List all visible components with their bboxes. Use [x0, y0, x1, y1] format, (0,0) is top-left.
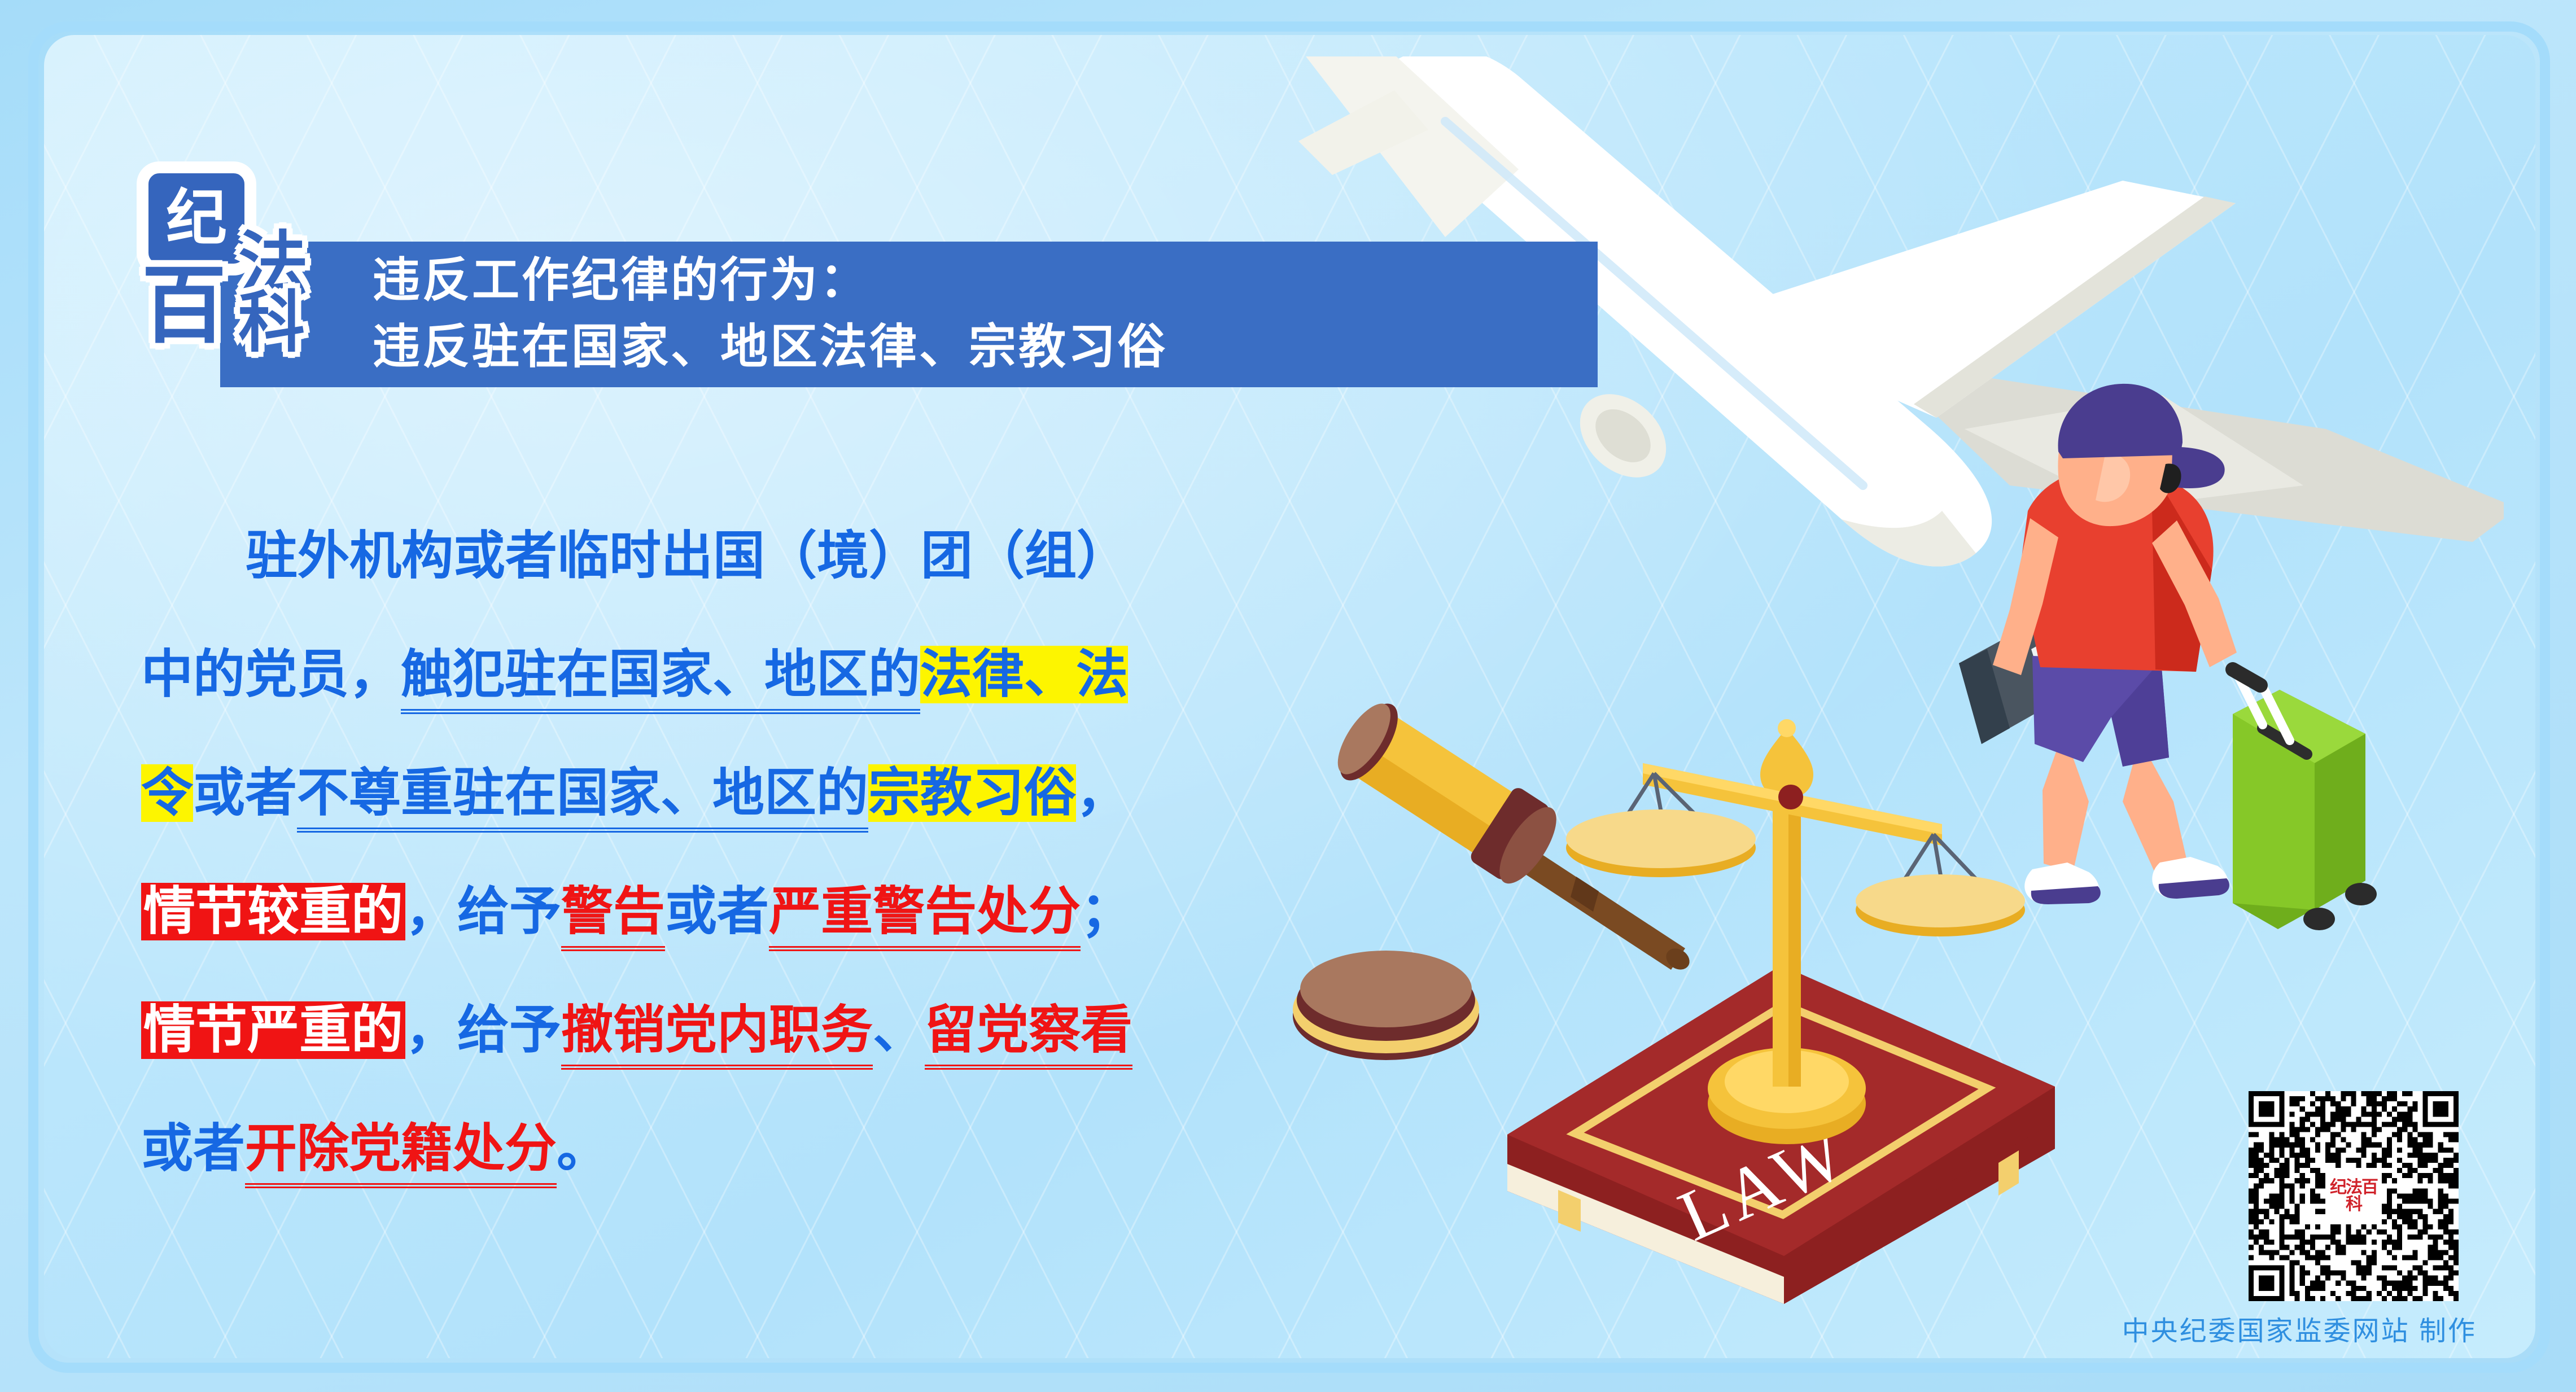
banner-line-2: 违反驻在国家、地区法律、宗教习俗 — [373, 314, 1598, 381]
body-segment: 中的党员， — [141, 646, 401, 703]
body-segment: 或者 — [665, 883, 769, 940]
body-segment: 或者 — [193, 764, 297, 822]
body-line-5: 情节严重的，给予撤销党内职务、留党察看 — [141, 971, 1270, 1089]
body-segment: ， — [1076, 764, 1128, 822]
body-line-2: 中的党员，触犯驻在国家、地区的法律、法 — [141, 615, 1270, 734]
body-segment: 法律、 — [920, 646, 1076, 703]
body-segment: ； — [1081, 883, 1132, 940]
body-segment: 开除党籍处分 — [245, 1120, 557, 1188]
logo-char-bai: 百 — [119, 264, 250, 349]
logo-char-ke: 科 — [238, 290, 305, 357]
qr-code[interactable]: 纪法百科 — [2249, 1091, 2459, 1301]
body-segment: 。 — [557, 1120, 609, 1177]
body-segment: 驻外机构或者临时出国（境）团（组） — [246, 527, 1129, 585]
poster-root: LAW — [0, 0, 2576, 1392]
body-segment: 情节严重的 — [141, 1001, 405, 1059]
body-segment: 或者 — [141, 1120, 245, 1177]
title-banner: 违反工作纪律的行为： 违反驻在国家、地区法律、宗教习俗 — [220, 242, 1598, 387]
body-line-3: 令或者不尊重驻在国家、地区的宗教习俗， — [141, 734, 1270, 852]
body-segment: ，给予 — [405, 883, 561, 940]
body-segment: 情节较重的 — [141, 883, 405, 940]
body-segment: ，给予 — [405, 1001, 561, 1059]
body-segment: 严重警告处分 — [769, 883, 1081, 951]
body-line-1: 驻外机构或者临时出国（境）团（组） — [141, 497, 1270, 615]
body-segment: 令 — [141, 764, 193, 822]
qr-center-logo: 纪法百科 — [2329, 1172, 2378, 1220]
banner-line-1: 违反工作纪律的行为： — [373, 248, 1598, 314]
body-segment: 不尊重驻在国家、地区的 — [297, 764, 868, 833]
body-line-4: 情节较重的，给予警告或者严重警告处分； — [141, 852, 1270, 971]
body-segment: 法 — [1076, 646, 1128, 703]
body-paragraph: 驻外机构或者临时出国（境）团（组）中的党员，触犯驻在国家、地区的法律、法令或者不… — [141, 497, 1270, 1208]
body-line-6: 或者开除党籍处分。 — [141, 1089, 1270, 1208]
body-segment: 警告 — [561, 883, 665, 951]
body-segment: 触犯驻在国家、地区的 — [401, 646, 920, 714]
body-segment: 撤销党内职务 — [561, 1001, 873, 1070]
logo-char-ji: 纪 — [145, 169, 248, 268]
body-segment: 留党察看 — [925, 1001, 1132, 1070]
body-segment: 宗教习俗 — [868, 764, 1076, 822]
footer-credit: 中央纪委国家监委网站 制作 — [2122, 1308, 2477, 1348]
body-segment: 、 — [873, 1001, 925, 1059]
brand-logo: 纪 百 法 科 — [119, 169, 333, 350]
